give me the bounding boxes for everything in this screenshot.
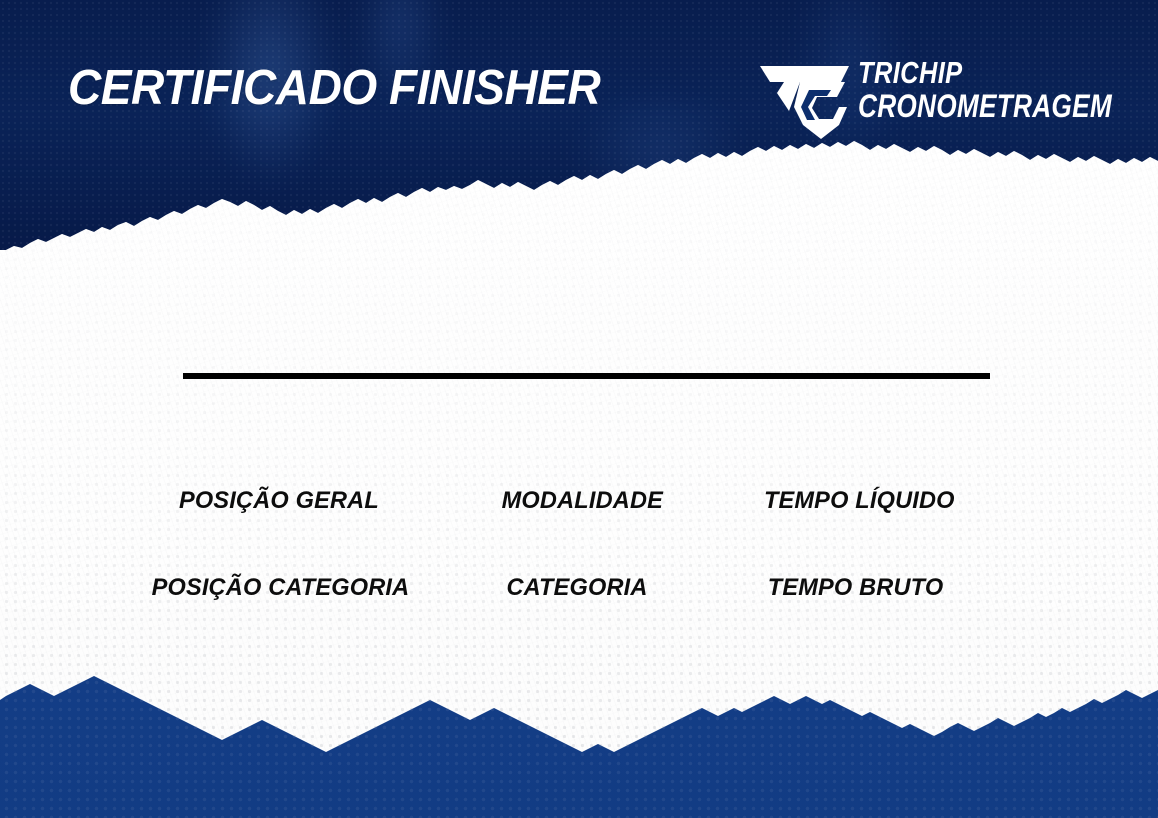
certificate-page: CERTIFICADO FINISHER TRICHIP CRONOMETRAG… [0,0,1158,818]
trichip-tc-monogram-icon [753,63,849,139]
participant-name-line [183,373,990,379]
field-label-posicao-geral: POSIÇÃO GERAL [179,487,379,515]
logo-name-line1: TRICHIP [858,58,1112,88]
field-label-modalidade: MODALIDADE [502,487,663,515]
field-label-categoria: CATEGORIA [506,574,647,602]
field-label-tempo-liquido: TEMPO LÍQUIDO [764,487,955,515]
logo-name-line2: CRONOMETRAGEM [858,91,1112,122]
page-title: CERTIFICADO FINISHER [68,64,600,113]
logo-wordmark: TRICHIP CRONOMETRAGEM [858,58,1158,121]
trichip-logo: TRICHIP CRONOMETRAGEM [753,58,1103,140]
field-label-tempo-bruto: TEMPO BRUTO [768,574,944,602]
field-label-posicao-categoria: POSIÇÃO CATEGORIA [152,574,410,602]
